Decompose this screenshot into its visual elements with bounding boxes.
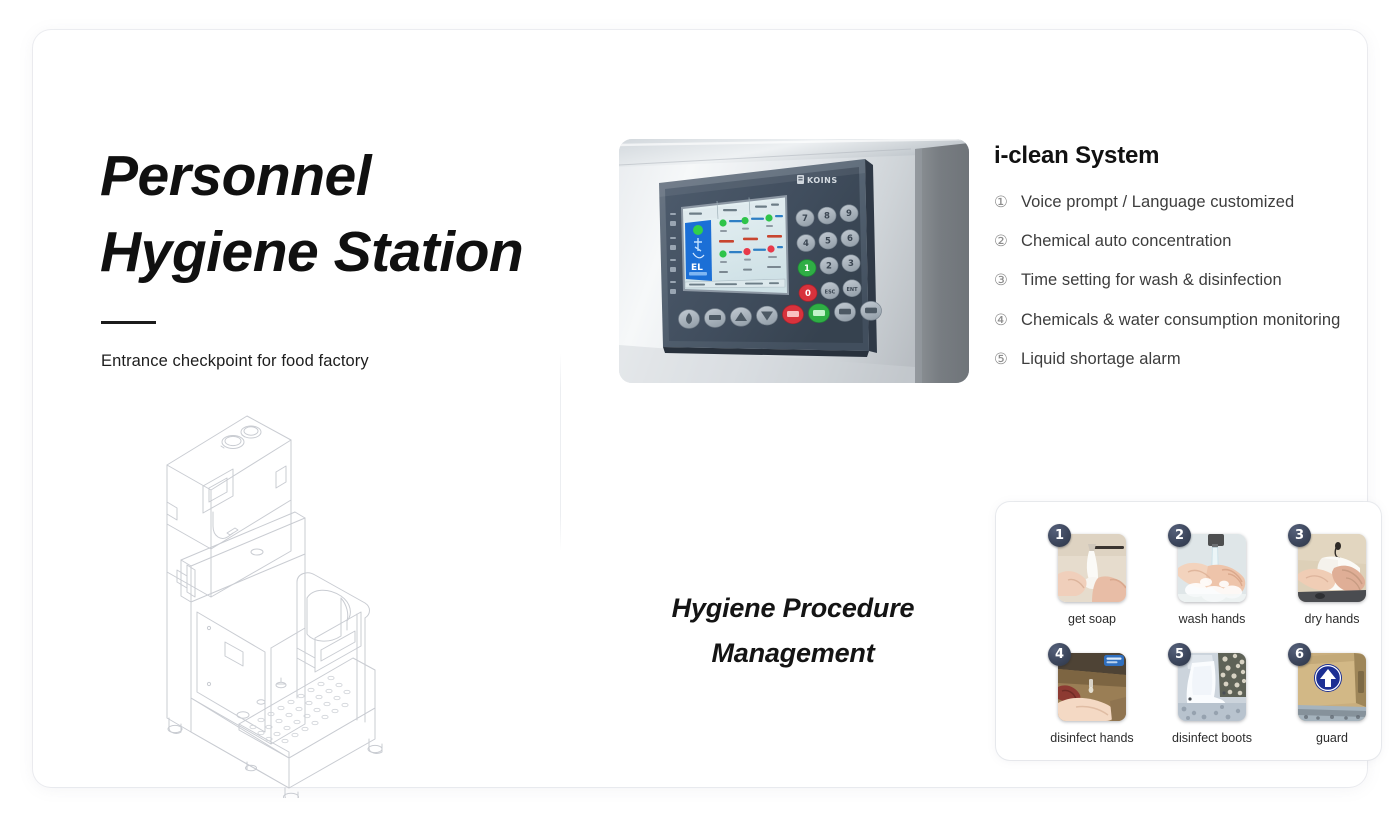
step-badge: 6 [1288, 643, 1311, 666]
feature-item: ④ Chemicals & water consumption monitori… [994, 311, 1394, 350]
feature-number-icon: ④ [994, 311, 1021, 329]
step-label: guard [1274, 731, 1390, 745]
iclean-system-title: i-clean System [994, 142, 1159, 170]
step-label: get soap [1034, 612, 1150, 626]
step-badge: 5 [1168, 643, 1191, 666]
get-soap-thumbnail [1058, 534, 1126, 602]
disinfect-hands-thumbnail [1058, 653, 1126, 721]
procedure-heading: Hygiene Procedure Management [613, 586, 973, 676]
guard-thumbnail [1298, 653, 1366, 721]
svg-text:EL: EL [691, 263, 703, 273]
feature-label: Voice prompt / Language customized [1021, 193, 1294, 212]
svg-text:7: 7 [802, 214, 808, 224]
page-title: Personnel Hygiene Station [100, 138, 570, 290]
feature-label: Chemicals & water consumption monitoring [1021, 311, 1340, 330]
step-label: disinfect hands [1034, 731, 1150, 745]
svg-text:ENT: ENT [846, 287, 858, 293]
procedure-heading-line1: Hygiene Procedure [672, 593, 915, 623]
feature-item: ① Voice prompt / Language customized [994, 193, 1394, 232]
svg-text:6: 6 [847, 234, 853, 244]
page-title-line1: Personnel [100, 144, 371, 208]
feature-number-icon: ② [994, 232, 1021, 250]
feature-number-icon: ③ [994, 271, 1021, 289]
slide-page: Personnel Hygiene Station Entrance check… [0, 0, 1400, 819]
step-badge: 3 [1288, 524, 1311, 547]
procedure-heading-line2: Management [613, 631, 973, 676]
step-label: wash hands [1154, 612, 1270, 626]
product-line-drawing [129, 402, 421, 798]
step-label: disinfect boots [1154, 731, 1270, 745]
svg-text:ESC: ESC [825, 289, 836, 295]
dry-hands-thumbnail [1298, 534, 1366, 602]
procedure-step[interactable]: 4 disinfect hands [1048, 647, 1168, 766]
svg-text:1: 1 [804, 264, 810, 274]
step-badge: 1 [1048, 524, 1071, 547]
disinfect-boots-thumbnail [1178, 653, 1246, 721]
hygiene-procedure-panel: 1 get soap [996, 502, 1381, 760]
procedure-step[interactable]: 2 wash hands [1168, 528, 1288, 647]
vertical-divider [560, 353, 561, 551]
wash-hands-thumbnail [1178, 534, 1246, 602]
title-divider-rule [101, 321, 156, 324]
procedure-step-grid: 1 get soap [1048, 528, 1348, 766]
page-subtitle: Entrance checkpoint for food factory [101, 352, 369, 371]
feature-label: Time setting for wash & disinfection [1021, 271, 1282, 290]
procedure-step[interactable]: 6 guard [1288, 647, 1400, 766]
feature-item: ② Chemical auto concentration [994, 232, 1394, 271]
feature-label: Chemical auto concentration [1021, 232, 1231, 251]
svg-text:2: 2 [826, 262, 832, 272]
feature-item: ③ Time setting for wash & disinfection [994, 271, 1394, 310]
svg-text:9: 9 [846, 209, 852, 219]
step-badge: 2 [1168, 524, 1191, 547]
step-badge: 4 [1048, 643, 1071, 666]
slide-card: Personnel Hygiene Station Entrance check… [33, 30, 1367, 787]
feature-number-icon: ⑤ [994, 350, 1021, 368]
svg-text:8: 8 [824, 212, 830, 222]
step-label: dry hands [1274, 612, 1390, 626]
svg-text:3: 3 [848, 259, 854, 269]
feature-item: ⑤ Liquid shortage alarm [994, 350, 1394, 389]
iclean-feature-list: ① Voice prompt / Language customized ② C… [994, 193, 1394, 389]
procedure-step[interactable]: 3 dry hands [1288, 528, 1400, 647]
hmi-control-panel-photo: KOINS EL [619, 139, 969, 383]
procedure-step[interactable]: 5 disinfect boots [1168, 647, 1288, 766]
svg-text:5: 5 [825, 237, 831, 247]
page-title-line2: Hygiene Station [100, 214, 570, 290]
procedure-step[interactable]: 1 get soap [1048, 528, 1168, 647]
feature-number-icon: ① [994, 193, 1021, 211]
svg-text:4: 4 [803, 239, 809, 249]
feature-label: Liquid shortage alarm [1021, 350, 1181, 369]
svg-text:0: 0 [805, 289, 811, 299]
